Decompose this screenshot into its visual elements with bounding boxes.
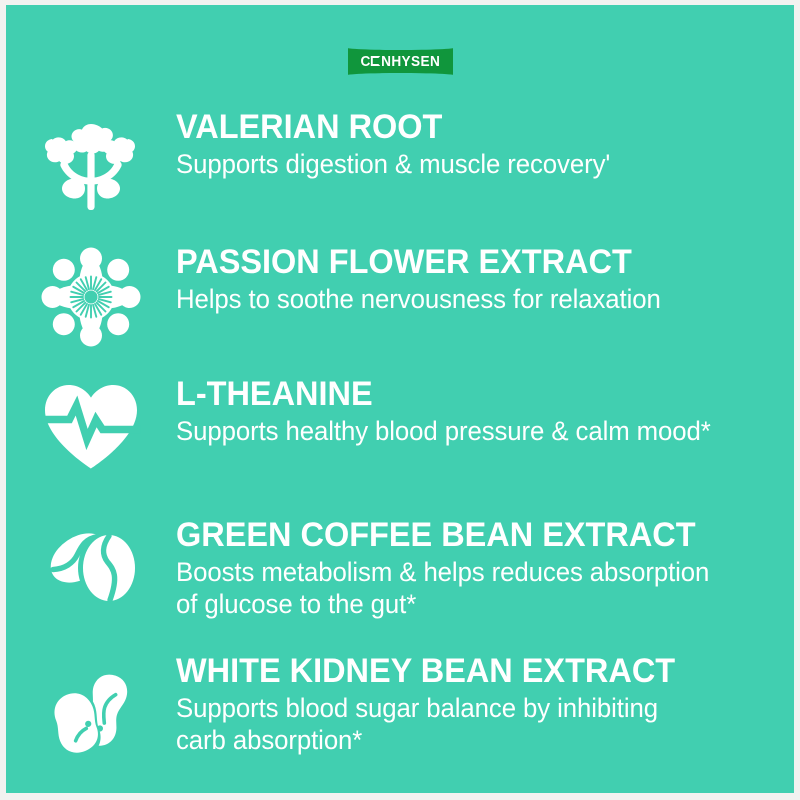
item-title: WHITE KIDNEY BEAN EXTRACT bbox=[176, 654, 749, 689]
icon-cell bbox=[6, 650, 176, 760]
item-description: Supports healthy blood pressure & calm m… bbox=[176, 416, 749, 448]
coffee-beans-icon bbox=[39, 522, 143, 606]
icon-cell bbox=[6, 373, 176, 469]
text-cell: WHITE KIDNEY BEAN EXTRACT Supports blood… bbox=[176, 650, 794, 757]
item-description-line-1: Supports digestion & muscle recovery' bbox=[176, 149, 610, 179]
ingredient-row-white-kidney-bean-extract: WHITE KIDNEY BEAN EXTRACT Supports blood… bbox=[6, 650, 794, 760]
item-description-line-1: Supports healthy blood pressure & calm m… bbox=[176, 416, 711, 446]
item-description-line-1: Boosts metabolism & helps reduces absorp… bbox=[176, 557, 709, 587]
item-title: VALERIAN ROOT bbox=[176, 110, 749, 145]
brand-letter-o-stylized bbox=[371, 56, 380, 67]
kidney-beans-icon bbox=[39, 672, 143, 760]
ingredient-row-valerian-root: VALERIAN ROOT Supports digestion & muscl… bbox=[6, 110, 794, 212]
item-description: Supports digestion & muscle recovery' bbox=[176, 149, 749, 181]
item-description-line-1: Supports blood sugar balance by inhibiti… bbox=[176, 693, 658, 723]
text-cell: GREEN COFFEE BEAN EXTRACT Boosts metabol… bbox=[176, 510, 794, 621]
item-description-line-2: of glucose to the gut* bbox=[176, 589, 749, 621]
brand-logo-plate: CNHYSEN bbox=[348, 48, 453, 75]
item-description-line-1: Helps to soothe nervousness for relaxati… bbox=[176, 284, 661, 314]
item-title: L-THEANINE bbox=[176, 377, 749, 412]
text-cell: L-THEANINE Supports healthy blood pressu… bbox=[176, 373, 794, 448]
brand-letter-c: C bbox=[360, 54, 370, 70]
icon-cell bbox=[6, 110, 176, 212]
item-description: Supports blood sugar balance by inhibiti… bbox=[176, 693, 749, 757]
valerian-flower-icon bbox=[39, 112, 143, 212]
icon-cell bbox=[6, 245, 176, 349]
item-description-line-2: carb absorption* bbox=[176, 725, 749, 757]
brand-logo: CNHYSEN bbox=[6, 48, 794, 75]
text-cell: VALERIAN ROOT Supports digestion & muscl… bbox=[176, 110, 794, 181]
item-description: Boosts metabolism & helps reduces absorp… bbox=[176, 557, 749, 621]
item-title: PASSION FLOWER EXTRACT bbox=[176, 245, 749, 280]
passion-flower-icon bbox=[39, 245, 143, 349]
ingredient-benefits-infographic: CNHYSEN bbox=[0, 0, 800, 800]
icon-cell bbox=[6, 510, 176, 606]
ingredient-row-passion-flower-extract: PASSION FLOWER EXTRACT Helps to soothe n… bbox=[6, 245, 794, 349]
ingredient-row-green-coffee-bean-extract: GREEN COFFEE BEAN EXTRACT Boosts metabol… bbox=[6, 510, 794, 621]
brand-letters-rest: NHYSEN bbox=[381, 54, 440, 70]
item-title: GREEN COFFEE BEAN EXTRACT bbox=[176, 518, 749, 553]
brand-logo-text: CNHYSEN bbox=[360, 54, 440, 70]
item-description: Helps to soothe nervousness for relaxati… bbox=[176, 284, 749, 316]
infographic-canvas: CNHYSEN bbox=[6, 5, 794, 793]
text-cell: PASSION FLOWER EXTRACT Helps to soothe n… bbox=[176, 245, 794, 316]
ingredient-row-l-theanine: L-THEANINE Supports healthy blood pressu… bbox=[6, 373, 794, 469]
heart-pulse-icon bbox=[41, 381, 141, 469]
